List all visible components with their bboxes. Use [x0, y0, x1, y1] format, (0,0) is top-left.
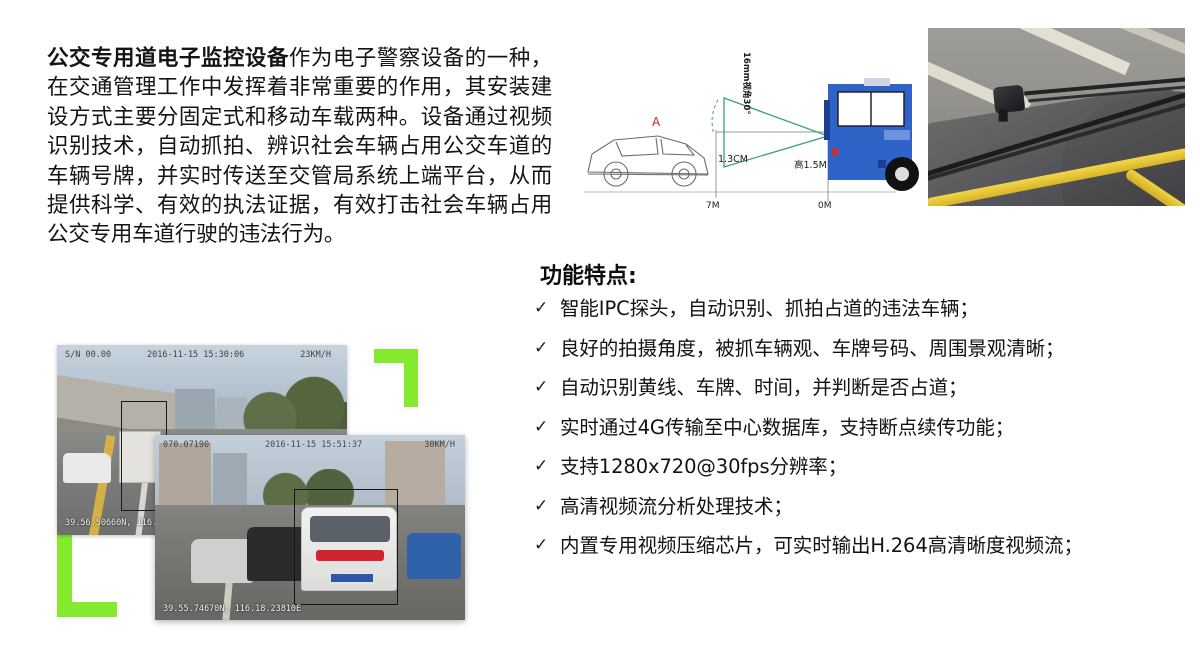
vehicle: [63, 453, 111, 483]
feature-text: 高清视频流分析处理技术；: [560, 494, 1186, 520]
diagram-car-label: A: [652, 115, 661, 129]
diagram-bus-height-label: 高1.5M: [794, 159, 827, 171]
feature-text: 自动识别黄线、车牌、时间，并判断是否占道；: [560, 375, 1186, 401]
overlay-device-id: 070.07190: [155, 440, 265, 450]
features-heading: 功能特点:: [540, 258, 637, 290]
decorative-corner-bracket-top-right: [374, 349, 418, 407]
building: [213, 453, 247, 513]
list-item: ✓ 高清视频流分析处理技术；: [534, 494, 1186, 520]
overlay-speed: 30KM/H: [385, 440, 465, 450]
intro-body-text: 作为电子警察设备的一种，在交通管理工作中发挥着非常重要的作用，其安装建设方式主要…: [47, 46, 552, 247]
features-list: ✓ 智能IPC探头，自动识别、抓拍占道的违法车辆； ✓ 良好的拍摄角度，被抓车辆…: [534, 296, 1186, 573]
overlay-device-id: S/N 00.00: [57, 350, 147, 360]
list-item: ✓ 智能IPC探头，自动识别、抓拍占道的违法车辆；: [534, 296, 1186, 322]
list-item: ✓ 内置专用视频压缩芯片，可实时输出H.264高清晰度视频流；: [534, 533, 1186, 559]
camera-coverage-diagram: A 16mm视角30° 1.3CM 高1.5M 7M 0M: [566, 22, 934, 230]
feature-text: 内置专用视频压缩芯片，可实时输出H.264高清晰度视频流；: [560, 533, 1186, 559]
bus-dashboard-camera-photo: [928, 28, 1185, 206]
diagram-distance-near-label: 0M: [818, 201, 832, 211]
check-icon: ✓: [534, 494, 560, 519]
feature-text: 实时通过4G传输至中心数据库，支持断点续传功能；: [560, 415, 1186, 441]
overlay-timestamp: 2016-11-15 15:51:37: [265, 440, 385, 450]
diagram-height-label: 1.3CM: [718, 154, 748, 165]
check-icon: ✓: [534, 533, 560, 558]
list-item: ✓ 良好的拍摄角度，被抓车辆观、车牌号码、周围景观清晰；: [534, 336, 1186, 362]
diagram-lens-label: 16mm视角30°: [741, 52, 752, 115]
check-icon: ✓: [534, 415, 560, 440]
feature-text: 良好的拍摄角度，被抓车辆观、车牌号码、周围景观清晰；: [560, 336, 1186, 362]
decorative-corner-bracket-bottom-left: [57, 535, 117, 617]
bracket-vertical-bar: [404, 349, 418, 407]
intro-lead-title: 公交专用道电子监控设备: [47, 46, 289, 71]
list-item: ✓ 支持1280x720@30fps分辨率；: [534, 454, 1186, 480]
check-icon: ✓: [534, 454, 560, 479]
feature-text: 支持1280x720@30fps分辨率；: [560, 454, 1186, 480]
list-item: ✓ 自动识别黄线、车牌、时间，并判断是否占道；: [534, 375, 1186, 401]
feature-text: 智能IPC探头，自动识别、抓拍占道的违法车辆；: [560, 296, 1186, 322]
detection-bounding-box: [294, 489, 398, 605]
diagram-distance-far-label: 7M: [706, 201, 720, 211]
intro-paragraph: 公交专用道电子监控设备作为电子警察设备的一种，在交通管理工作中发挥着非常重要的作…: [47, 44, 552, 250]
overlay-timestamp: 2016-11-15 15:30:06: [147, 350, 257, 360]
vehicle: [407, 533, 461, 579]
overlay-top-bar: S/N 00.00 2016-11-15 15:30:06 23KM/H: [57, 348, 347, 362]
check-icon: ✓: [534, 375, 560, 400]
bracket-horizontal-bar: [57, 602, 117, 617]
capture-photo-two: 070.07190 2016-11-15 15:51:37 30KM/H 39.…: [155, 435, 465, 620]
check-icon: ✓: [534, 336, 560, 361]
overlay-speed: 23KM/H: [257, 350, 347, 360]
vehicle: [191, 539, 253, 583]
building: [159, 443, 211, 513]
check-icon: ✓: [534, 296, 560, 321]
mounted-ipc-camera: [993, 85, 1026, 114]
list-item: ✓ 实时通过4G传输至中心数据库，支持断点续传功能；: [534, 415, 1186, 441]
overlay-gps-coordinates: 39.55.74670N, 116.18.23810E: [163, 604, 301, 614]
overlay-top-bar: 070.07190 2016-11-15 15:51:37 30KM/H: [155, 438, 465, 452]
